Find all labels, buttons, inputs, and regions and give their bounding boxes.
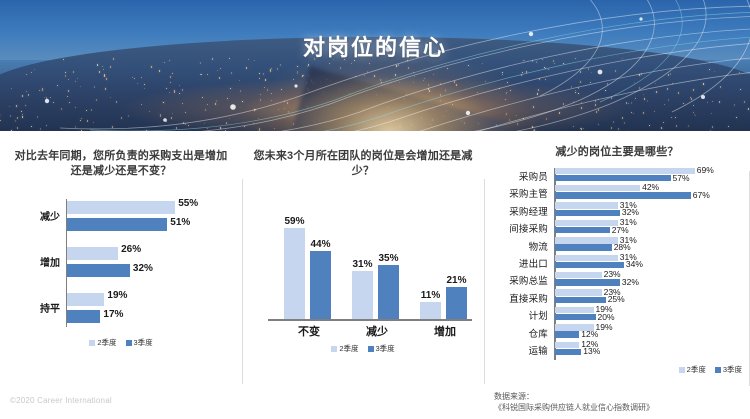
- legend-item-q2: 2季度: [331, 343, 358, 354]
- legend-label-q2: 2季度: [97, 337, 116, 348]
- chart2-column-group: 59%44%: [278, 201, 340, 319]
- chart-roles-reduced: 采购员69%57%采购主管42%67%采购经理31%32%间接采购31%27%物…: [484, 166, 750, 362]
- chart2-value-q2: 31%: [352, 259, 373, 271]
- chart2-column-q3: 21%: [446, 287, 467, 319]
- chart1-bar-q2: [67, 201, 175, 214]
- chart-panel-headcount-outlook: 您未来3个月所在团队的岗位是会增加还是减少？ 59%44%31%35%11%21…: [242, 131, 484, 419]
- chart2-x-label: 增加: [414, 323, 476, 339]
- chart3-bar-group: 采购总监23%32%: [484, 270, 750, 287]
- legend-label-q2: 2季度: [687, 364, 706, 375]
- chart2-x-axis-labels: 不变减少增加: [268, 323, 472, 341]
- chart2-column-group: 11%21%: [414, 201, 476, 319]
- chart2-column-q3: 44%: [310, 251, 331, 319]
- chart3-value-q3: 28%: [614, 242, 631, 252]
- chart1-bar-group: 减少55%51%: [0, 197, 242, 239]
- chart1-bar-q2: [67, 293, 104, 306]
- chart2-value-q3: 44%: [310, 239, 331, 251]
- chart1-legend: 2季度3季度: [0, 337, 242, 348]
- legend-label-q3: 3季度: [376, 343, 395, 354]
- chart2-axis-line: [268, 319, 472, 321]
- chart3-bar-group: 仓库19%12%: [484, 323, 750, 340]
- legend-swatch-q2-icon: [331, 346, 337, 352]
- chart3-value-q3: 67%: [693, 190, 710, 200]
- chart3-bar-q3: [555, 297, 606, 303]
- chart2-x-label: 减少: [346, 323, 408, 339]
- chart3-bar-group: 直接采购23%25%: [484, 288, 750, 305]
- chart2-value-q2: 59%: [284, 216, 305, 228]
- legend-swatch-q2-icon: [679, 367, 685, 373]
- chart3-legend: 2季度3季度: [484, 364, 750, 375]
- legend-item-q3: 3季度: [368, 343, 395, 354]
- chart3-bar-group: 物流31%28%: [484, 236, 750, 253]
- chart3-bar-q3: [555, 244, 612, 250]
- chart3-bar-group: 间接采购31%27%: [484, 218, 750, 235]
- chart-title-headcount-outlook: 您未来3个月所在团队的岗位是会增加还是减少？: [242, 131, 484, 179]
- chart3-bar-q3: [555, 210, 620, 216]
- data-source-name: 《科锐国际采购供应链人就业信心指数调研》: [494, 402, 744, 413]
- chart3-category-label: 计划: [484, 308, 548, 322]
- chart1-bar-q3: [67, 310, 100, 323]
- chart3-value-q3: 12%: [581, 329, 598, 339]
- legend-swatch-q2-icon: [89, 340, 95, 346]
- chart2-column-q2: 11%: [420, 302, 441, 319]
- slide: 对岗位的信心 对比去年同期，您所负责的采购支出是增加还是减少还是不变？ 减少55…: [0, 0, 750, 419]
- legend-swatch-q3-icon: [368, 346, 374, 352]
- chart1-bar-q2: [67, 247, 118, 260]
- chart1-value-q3: 17%: [103, 309, 123, 320]
- chart3-bar-q2: [555, 202, 618, 208]
- chart3-value-q3: 13%: [583, 346, 600, 356]
- chart1-value-q2: 26%: [121, 244, 141, 255]
- chart3-bar-q3: [555, 349, 581, 355]
- chart1-value-q3: 32%: [133, 263, 153, 274]
- chart1-bar-q3: [67, 218, 167, 231]
- chart2-column-q3: 35%: [378, 265, 399, 319]
- chart3-category-label: 采购总监: [484, 273, 548, 287]
- legend-item-q3: 3季度: [715, 364, 742, 375]
- chart-spend-change: 减少55%51%增加26%32%持平19%17%: [0, 197, 242, 337]
- chart-panel-roles-reduced: 减少的岗位主要是哪些？ 采购员69%57%采购主管42%67%采购经理31%32…: [484, 131, 750, 419]
- chart3-category-label: 间接采购: [484, 221, 548, 235]
- legend-label-q2: 2季度: [339, 343, 358, 354]
- chart2-x-label: 不变: [278, 323, 340, 339]
- chart1-category-label: 增加: [0, 254, 60, 269]
- chart3-category-label: 运输: [484, 343, 548, 357]
- chart3-bar-q3: [555, 227, 610, 233]
- chart3-bar-q3: [555, 279, 620, 285]
- chart2-value-q2: 11%: [420, 290, 441, 302]
- legend-label-q3: 3季度: [723, 364, 742, 375]
- chart-headcount-outlook: 59%44%31%35%11%21% 不变减少增加: [250, 193, 476, 343]
- header-banner-image: 对岗位的信心: [0, 0, 750, 131]
- chart3-bar-q2: [555, 237, 618, 243]
- chart3-bar-q2: [555, 307, 594, 313]
- chart1-value-q2: 55%: [178, 198, 198, 209]
- legend-item-q2: 2季度: [89, 337, 116, 348]
- chart1-category-label: 减少: [0, 208, 60, 223]
- chart3-bar-group: 进出口31%34%: [484, 253, 750, 270]
- chart1-bar-group: 持平19%17%: [0, 289, 242, 331]
- chart3-bar-group: 采购经理31%32%: [484, 201, 750, 218]
- chart3-value-q3: 27%: [612, 225, 629, 235]
- chart3-value-q2: 69%: [697, 165, 714, 175]
- chart3-bar-group: 采购主管42%67%: [484, 183, 750, 200]
- chart3-bar-q2: [555, 342, 579, 348]
- legend-swatch-q3-icon: [126, 340, 132, 346]
- chart3-category-label: 进出口: [484, 256, 548, 270]
- data-source-note: 数据来源： 《科锐国际采购供应链人就业信心指数调研》: [494, 391, 744, 413]
- chart3-bar-group: 计划19%20%: [484, 305, 750, 322]
- page-title: 对岗位的信心: [0, 30, 750, 62]
- chart3-bar-q3: [555, 192, 691, 198]
- chart1-value-q3: 51%: [170, 217, 190, 228]
- copyright-text: ©2020 Career International: [10, 396, 112, 405]
- chart3-category-label: 仓库: [484, 326, 548, 340]
- chart3-value-q3: 34%: [626, 259, 643, 269]
- chart1-bar-group: 增加26%32%: [0, 243, 242, 285]
- chart2-legend: 2季度3季度: [242, 343, 484, 354]
- chart3-bar-q2: [555, 272, 602, 278]
- chart3-bar-q3: [555, 331, 579, 337]
- chart3-value-q2: 23%: [604, 269, 621, 279]
- chart2-column-q2: 31%: [352, 271, 373, 319]
- legend-item-q2: 2季度: [679, 364, 706, 375]
- chart3-value-q3: 20%: [598, 312, 615, 322]
- legend-item-q3: 3季度: [126, 337, 153, 348]
- chart3-value-q3: 32%: [622, 207, 639, 217]
- chart3-bar-q2: [555, 185, 640, 191]
- chart3-bar-q3: [555, 175, 671, 181]
- chart3-value-q3: 57%: [673, 173, 690, 183]
- charts-area: 对比去年同期，您所负责的采购支出是增加还是减少还是不变？ 减少55%51%增加2…: [0, 131, 750, 419]
- chart1-bar-q3: [67, 264, 130, 277]
- chart2-column-q2: 59%: [284, 228, 305, 319]
- chart3-bar-q2: [555, 289, 602, 295]
- chart3-bar-q3: [555, 314, 596, 320]
- chart-title-spend-change: 对比去年同期，您所负责的采购支出是增加还是减少还是不变？: [0, 131, 242, 179]
- banner-network-lines-icon: [0, 0, 750, 131]
- chart2-plot-area: 59%44%31%35%11%21%: [268, 201, 468, 319]
- chart3-bar-q2: [555, 220, 618, 226]
- chart3-bar-group: 采购员69%57%: [484, 166, 750, 183]
- chart1-category-label: 持平: [0, 300, 60, 315]
- chart3-category-label: 采购主管: [484, 186, 548, 200]
- chart-title-roles-reduced: 减少的岗位主要是哪些？: [484, 131, 750, 160]
- chart3-category-label: 采购员: [484, 169, 548, 183]
- chart3-category-label: 物流: [484, 239, 548, 253]
- data-source-label: 数据来源：: [494, 391, 744, 402]
- chart3-value-q3: 25%: [608, 294, 625, 304]
- chart1-value-q2: 19%: [107, 290, 127, 301]
- chart3-bar-q3: [555, 262, 624, 268]
- chart-panel-spend-change: 对比去年同期，您所负责的采购支出是增加还是减少还是不变？ 减少55%51%增加2…: [0, 131, 242, 419]
- chart3-bar-q2: [555, 255, 618, 261]
- legend-label-q3: 3季度: [134, 337, 153, 348]
- legend-swatch-q3-icon: [715, 367, 721, 373]
- chart3-value-q3: 32%: [622, 277, 639, 287]
- chart2-value-q3: 35%: [378, 253, 399, 265]
- chart3-value-q2: 42%: [642, 182, 659, 192]
- chart3-bar-group: 运输12%13%: [484, 340, 750, 357]
- chart2-column-group: 31%35%: [346, 201, 408, 319]
- chart3-category-label: 采购经理: [484, 204, 548, 218]
- chart3-category-label: 直接采购: [484, 291, 548, 305]
- chart2-value-q3: 21%: [446, 275, 467, 287]
